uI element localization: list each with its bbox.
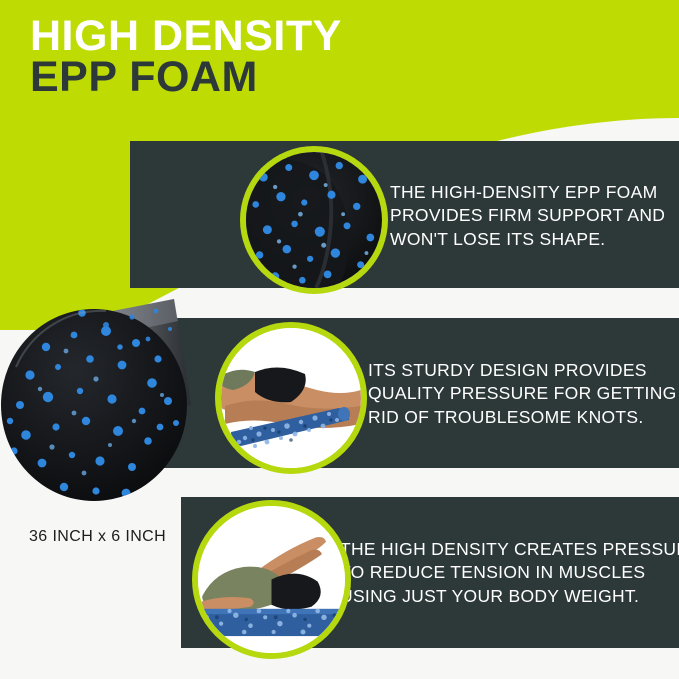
feature-text-2-line-2: QUALITY PRESSURE FOR GETTING — [368, 382, 677, 405]
foam-roller-product-photo — [0, 255, 216, 515]
feature-text-2-line-3: RID OF TROUBLESOME KNOTS. — [368, 406, 677, 429]
page-title: HIGH DENSITY EPP FOAM — [30, 16, 342, 99]
feature-text-2-line-1: ITS STURDY DESIGN PROVIDES — [368, 359, 677, 382]
title-line-primary: HIGH DENSITY — [30, 16, 342, 57]
product-infographic: HIGH DENSITY EPP FOAM THE HIGH-DENSITY E… — [0, 0, 679, 679]
feature-text-3-line-1: THE HIGH DENSITY CREATES PRESSURE — [340, 538, 679, 561]
feature-text-2: ITS STURDY DESIGN PROVIDES QUALITY PRESS… — [368, 359, 677, 429]
feature-image-2 — [215, 322, 367, 474]
feature-text-1-line-2: PROVIDES FIRM SUPPORT AND — [390, 204, 665, 227]
feature-text-1-line-3: WON'T LOSE ITS SHAPE. — [390, 228, 665, 251]
feature-text-3: THE HIGH DENSITY CREATES PRESSURE TO RED… — [340, 538, 679, 608]
feature-text-3-line-2: TO REDUCE TENSION IN MUSCLES — [340, 561, 679, 584]
feature-image-1 — [240, 146, 388, 294]
feature-text-1-line-1: THE HIGH-DENSITY EPP FOAM — [390, 181, 665, 204]
feature-text-3-line-3: USING JUST YOUR BODY WEIGHT. — [340, 585, 679, 608]
product-dimension-label: 36 INCH x 6 INCH — [29, 528, 166, 546]
title-line-secondary: EPP FOAM — [30, 57, 342, 98]
feature-image-3 — [192, 500, 351, 659]
feature-text-1: THE HIGH-DENSITY EPP FOAM PROVIDES FIRM … — [390, 181, 665, 251]
